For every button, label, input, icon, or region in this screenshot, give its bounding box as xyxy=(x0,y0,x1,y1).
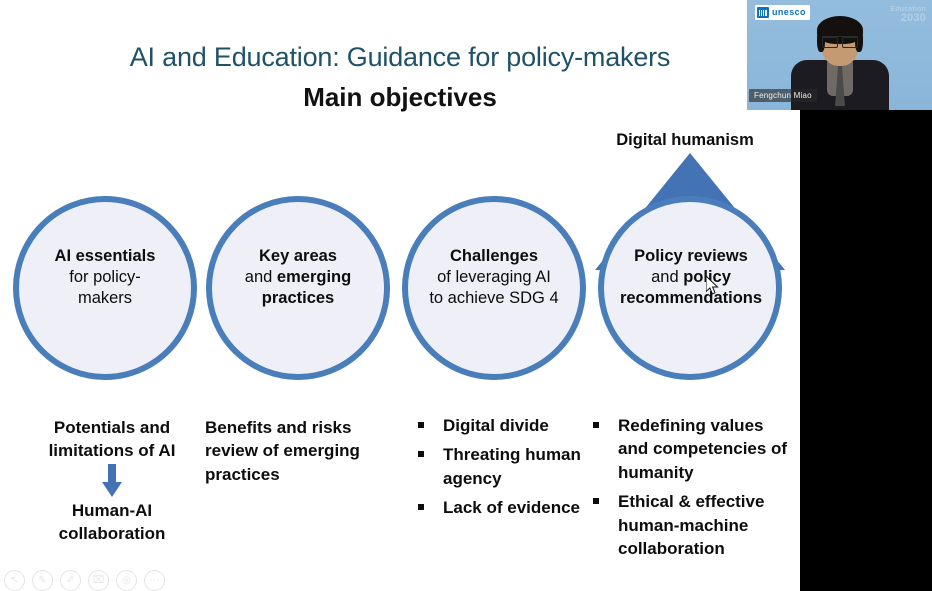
circle-2-label: Key areas and emerging practices xyxy=(210,246,386,308)
col2-line-2: review of emerging xyxy=(205,439,395,462)
col1-line-2: limitations of AI xyxy=(28,439,196,462)
speaker-video-tile[interactable]: unesco Education 2030 Fengchun Miao xyxy=(747,0,932,110)
column-1: Potentials and limitations of AI Human-A… xyxy=(28,416,196,546)
presentation-toolbar[interactable]: ↖ ✎ ✐ ⌧ ◎ ⋯ xyxy=(4,570,165,591)
circle-1-label: AI essentials for policy- makers xyxy=(17,246,193,308)
column-2: Benefits and risks review of emerging pr… xyxy=(205,416,395,486)
list-item: Redefining values and competencies of hu… xyxy=(588,414,798,484)
more-control-icon[interactable]: ⋯ xyxy=(144,570,165,591)
column-4-bullet-list: Redefining values and competencies of hu… xyxy=(588,414,798,561)
highlighter-control-icon[interactable]: ✐ xyxy=(60,570,81,591)
col2-line-3: practices xyxy=(205,463,395,486)
column-4: Redefining values and competencies of hu… xyxy=(588,414,798,567)
circle-2-line3: practices xyxy=(262,289,334,307)
unesco-logo: unesco xyxy=(755,5,810,20)
col1-line-4: collaboration xyxy=(28,522,196,545)
column-3: Digital divide Threating human agency La… xyxy=(413,414,591,526)
page-title: AI and Education: Guidance for policy-ma… xyxy=(0,42,800,73)
mouse-cursor-icon xyxy=(706,276,720,296)
presentation-slide: AI and Education: Guidance for policy-ma… xyxy=(0,0,800,591)
circle-3-head: Challenges xyxy=(450,247,538,265)
eraser-control-icon[interactable]: ⌧ xyxy=(88,570,109,591)
down-arrow-icon xyxy=(28,463,196,499)
circle-4-head: Policy reviews xyxy=(634,247,748,265)
circle-2-line2-bold: emerging xyxy=(277,268,351,286)
column-3-bullet-list: Digital divide Threating human agency La… xyxy=(413,414,591,520)
circle-3-line2: of leveraging AI xyxy=(437,268,551,286)
speaker-glasses-icon xyxy=(822,36,858,46)
education-2030-watermark: Education 2030 xyxy=(890,6,926,24)
circle-4-line2: and xyxy=(651,268,683,286)
unesco-temple-icon xyxy=(757,7,769,18)
pen-control-icon[interactable]: ✎ xyxy=(32,570,53,591)
list-item: Ethical & effective human-machine collab… xyxy=(588,490,798,560)
circle-1-head: AI essentials xyxy=(55,247,156,265)
col1-line-1: Potentials and xyxy=(28,416,196,439)
circle-4-label: Policy reviews and policy recommendation… xyxy=(597,246,785,308)
list-item: Lack of evidence xyxy=(413,496,591,519)
circle-1-line3: makers xyxy=(78,289,132,307)
circle-3-line3: to achieve SDG 4 xyxy=(429,289,558,307)
camera-control-icon[interactable]: ◎ xyxy=(116,570,137,591)
screen-share-window: AI and Education: Guidance for policy-ma… xyxy=(0,0,932,591)
circle-2-head: Key areas xyxy=(259,247,337,265)
col1-line-3: Human-AI xyxy=(28,499,196,522)
circle-4-line3: recommendations xyxy=(620,289,762,307)
page-subtitle: Main objectives xyxy=(0,82,800,113)
participant-name-label: Fengchun Miao xyxy=(749,89,817,102)
unesco-wordmark: unesco xyxy=(772,8,806,17)
circle-3-label: Challenges of leveraging AI to achieve S… xyxy=(404,246,584,308)
pointer-control-icon[interactable]: ↖ xyxy=(4,570,25,591)
watermark-line-2: 2030 xyxy=(890,13,926,24)
list-item: Digital divide xyxy=(413,414,591,437)
process-diagram: AI essentials for policy- makers Key are… xyxy=(0,120,800,400)
col2-line-1: Benefits and risks xyxy=(205,416,395,439)
list-item: Threating human agency xyxy=(413,443,591,490)
circle-1-line2: for policy- xyxy=(69,268,141,286)
circle-2-line2: and xyxy=(245,268,277,286)
